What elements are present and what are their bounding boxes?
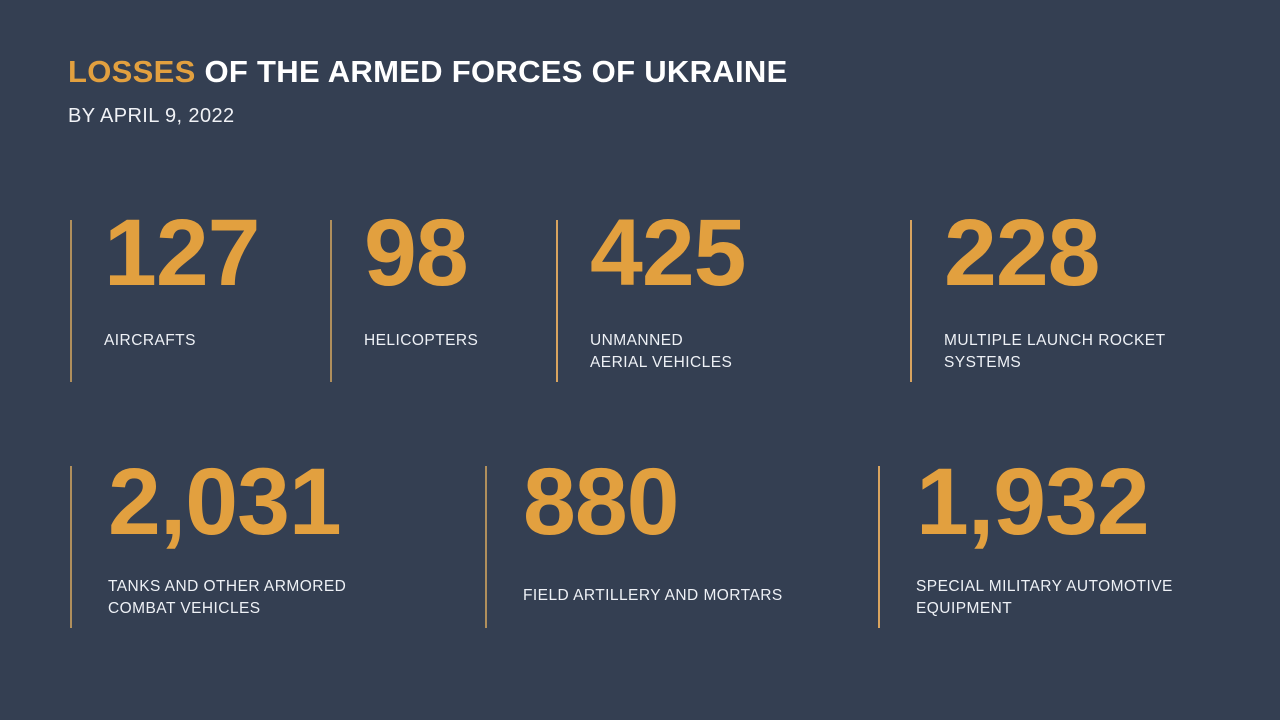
stat-card-aircrafts: 127 AIRCRAFTS <box>70 220 328 382</box>
stat-value-field-artillery: 880 <box>523 455 679 550</box>
page-title-accent: LOSSES <box>68 54 196 89</box>
page-subtitle: BY APRIL 9, 2022 <box>68 105 1208 128</box>
stat-card-special-military-automotive-equipment: 1,932 SPECIAL MILITARY AUTOMOTIVE EQUIPM… <box>878 466 1240 628</box>
stat-card-helicopters: 98 HELICOPTERS <box>330 220 554 382</box>
stat-value-multiple-launch-rocket-systems: 228 <box>944 206 1100 301</box>
stat-label-special-military-automotive-equipment: SPECIAL MILITARY AUTOMOTIVE EQUIPMENT <box>916 576 1173 620</box>
stat-row-top: 127 AIRCRAFTS 98 HELICOPTERS 425 UNMANNE… <box>0 220 1280 382</box>
stat-label-aircrafts: AIRCRAFTS <box>104 330 196 352</box>
stat-value-aircrafts: 127 <box>104 206 260 301</box>
stat-label-tanks: TANKS AND OTHER ARMORED COMBAT VEHICLES <box>108 576 346 620</box>
stat-value-tanks: 2,031 <box>108 455 341 550</box>
stat-card-unmanned-aerial-vehicles: 425 UNMANNED AERIAL VEHICLES <box>556 220 908 382</box>
stat-card-tanks: 2,031 TANKS AND OTHER ARMORED COMBAT VEH… <box>70 466 483 628</box>
infographic-slide: LOSSES OF THE ARMED FORCES OF UKRAINE BY… <box>0 0 1280 720</box>
stat-row-bottom: 2,031 TANKS AND OTHER ARMORED COMBAT VEH… <box>0 466 1280 628</box>
stat-card-multiple-launch-rocket-systems: 228 MULTIPLE LAUNCH ROCKET SYSTEMS <box>910 220 1240 382</box>
stat-label-unmanned-aerial-vehicles: UNMANNED AERIAL VEHICLES <box>590 330 732 374</box>
stat-card-field-artillery: 880 FIELD ARTILLERY AND MORTARS <box>485 466 876 628</box>
page-title-rest: OF THE ARMED FORCES OF UKRAINE <box>196 54 788 89</box>
stat-value-unmanned-aerial-vehicles: 425 <box>590 206 746 301</box>
stat-label-multiple-launch-rocket-systems: MULTIPLE LAUNCH ROCKET SYSTEMS <box>944 330 1165 374</box>
stat-value-helicopters: 98 <box>364 206 468 301</box>
stat-label-helicopters: HELICOPTERS <box>364 330 478 352</box>
stat-value-special-military-automotive-equipment: 1,932 <box>916 455 1149 550</box>
page-title: LOSSES OF THE ARMED FORCES OF UKRAINE <box>68 56 1208 89</box>
stat-label-field-artillery: FIELD ARTILLERY AND MORTARS <box>523 585 783 607</box>
header: LOSSES OF THE ARMED FORCES OF UKRAINE BY… <box>68 56 1208 128</box>
